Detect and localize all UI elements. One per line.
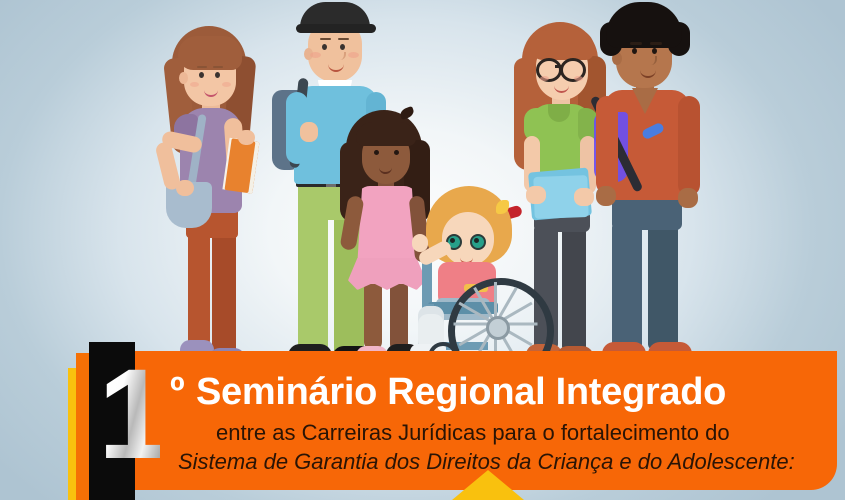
eye-right bbox=[340, 44, 345, 50]
hand-right bbox=[238, 130, 255, 145]
eye-left bbox=[199, 72, 204, 78]
edition-ordinal-mark: º bbox=[170, 372, 185, 412]
eyebrow-left bbox=[197, 66, 207, 68]
arm-left bbox=[596, 96, 618, 194]
eyebrow-right bbox=[213, 66, 223, 68]
arm-right bbox=[678, 96, 700, 196]
leg-left bbox=[188, 228, 210, 346]
hips bbox=[612, 196, 682, 230]
figure-girl-in-wheelchair bbox=[404, 186, 574, 372]
fringe bbox=[530, 30, 594, 60]
cap-brim bbox=[296, 24, 376, 33]
eyebrow-right bbox=[650, 42, 662, 45]
eyebrow-left bbox=[320, 38, 331, 40]
blush-right bbox=[574, 76, 583, 81]
fringe bbox=[178, 36, 242, 70]
subtitle-line-1: entre as Carreiras Jurídicas para o fort… bbox=[216, 420, 816, 446]
eye-left bbox=[374, 150, 379, 155]
leg-right bbox=[212, 228, 236, 354]
hair bbox=[606, 2, 682, 48]
hair-bow bbox=[399, 106, 416, 120]
glasses-bridge bbox=[555, 65, 562, 68]
figure-woman-with-handbag bbox=[152, 22, 282, 372]
eye-right bbox=[652, 48, 657, 54]
eye-right bbox=[394, 150, 399, 155]
leg-left bbox=[612, 222, 642, 350]
wheel-hub bbox=[486, 316, 510, 340]
pupil-left bbox=[450, 238, 455, 243]
blush-left bbox=[310, 52, 321, 58]
eyebrow-left bbox=[630, 42, 642, 45]
eye-left bbox=[632, 48, 637, 54]
ear bbox=[179, 72, 188, 84]
leg-left bbox=[298, 210, 328, 350]
subtitle-line-2: Sistema de Garantia dos Direitos da Cria… bbox=[178, 449, 818, 475]
figure-boy-with-messenger-bag bbox=[586, 0, 712, 372]
blush-left bbox=[540, 76, 549, 81]
eye-left bbox=[322, 44, 327, 50]
leg-right bbox=[648, 222, 678, 350]
edition-numeral: 1 bbox=[98, 356, 160, 484]
hand-left bbox=[300, 122, 318, 142]
hand-waving bbox=[412, 234, 428, 252]
eye-right bbox=[215, 72, 220, 78]
eyebrow-right bbox=[338, 38, 349, 40]
hand-left bbox=[176, 180, 194, 196]
poster-banner-image: 1 º Seminário Regional Integrado entre a… bbox=[0, 0, 845, 500]
book bbox=[225, 138, 260, 193]
blush-left bbox=[190, 82, 199, 87]
page-title: Seminário Regional Integrado bbox=[196, 370, 796, 414]
blush-right bbox=[222, 82, 231, 87]
blush-right bbox=[348, 52, 359, 58]
leg-left bbox=[364, 280, 382, 350]
hand-left bbox=[596, 186, 616, 206]
fringe bbox=[356, 122, 416, 146]
pupil-right bbox=[474, 238, 479, 243]
hand-right bbox=[678, 188, 698, 208]
